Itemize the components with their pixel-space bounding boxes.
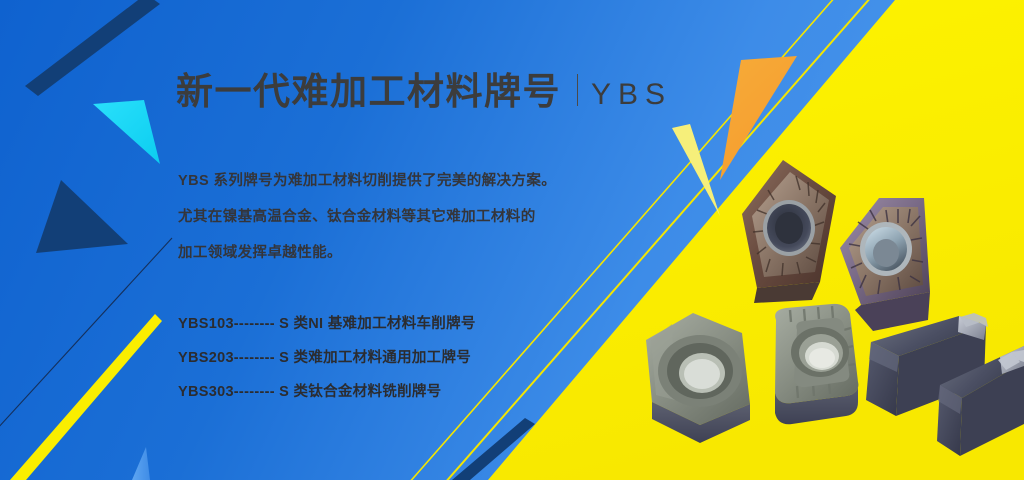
- description-block: YBS 系列牌号为难加工材料切削提供了完美的解决方案。 尤其在镍基高温合金、钛合…: [178, 163, 598, 271]
- description-line: 尤其在镍基高温合金、钛合金材料等其它难加工材料的: [178, 199, 598, 235]
- model-list-item: YBS103-------- S 类NI 基难加工材料车削牌号: [178, 307, 476, 341]
- title-divider: [577, 74, 578, 106]
- yellow-diagonal-stripe: [10, 314, 162, 480]
- product-banner: 新一代难加工材料牌号 YBS YBS 系列牌号为难加工材料切削提供了完美的解决方…: [0, 0, 1024, 480]
- model-list: YBS103-------- S 类NI 基难加工材料车削牌号 YBS203--…: [178, 307, 476, 409]
- title-sub-text: YBS: [591, 80, 672, 110]
- light-blue-triangle: [132, 447, 150, 480]
- navy-triangle: [36, 180, 128, 253]
- text-content: 新一代难加工材料牌号 YBS YBS 系列牌号为难加工材料切削提供了完美的解决方…: [176, 0, 696, 480]
- navy-diagonal-bar-top-left: [25, 0, 160, 96]
- description-line: 加工领域发挥卓越性能。: [178, 235, 598, 271]
- title-main-text: 新一代难加工材料牌号: [176, 73, 561, 110]
- square-face-insert: [775, 304, 858, 424]
- banner-title: 新一代难加工材料牌号 YBS: [176, 72, 672, 110]
- model-list-item: YBS303-------- S 类钛合金材料铣削牌号: [178, 375, 476, 409]
- cyan-triangle: [93, 100, 160, 164]
- description-line: YBS 系列牌号为难加工材料切削提供了完美的解决方案。: [178, 163, 598, 199]
- model-list-item: YBS203-------- S 类难加工材料通用加工牌号: [178, 341, 476, 375]
